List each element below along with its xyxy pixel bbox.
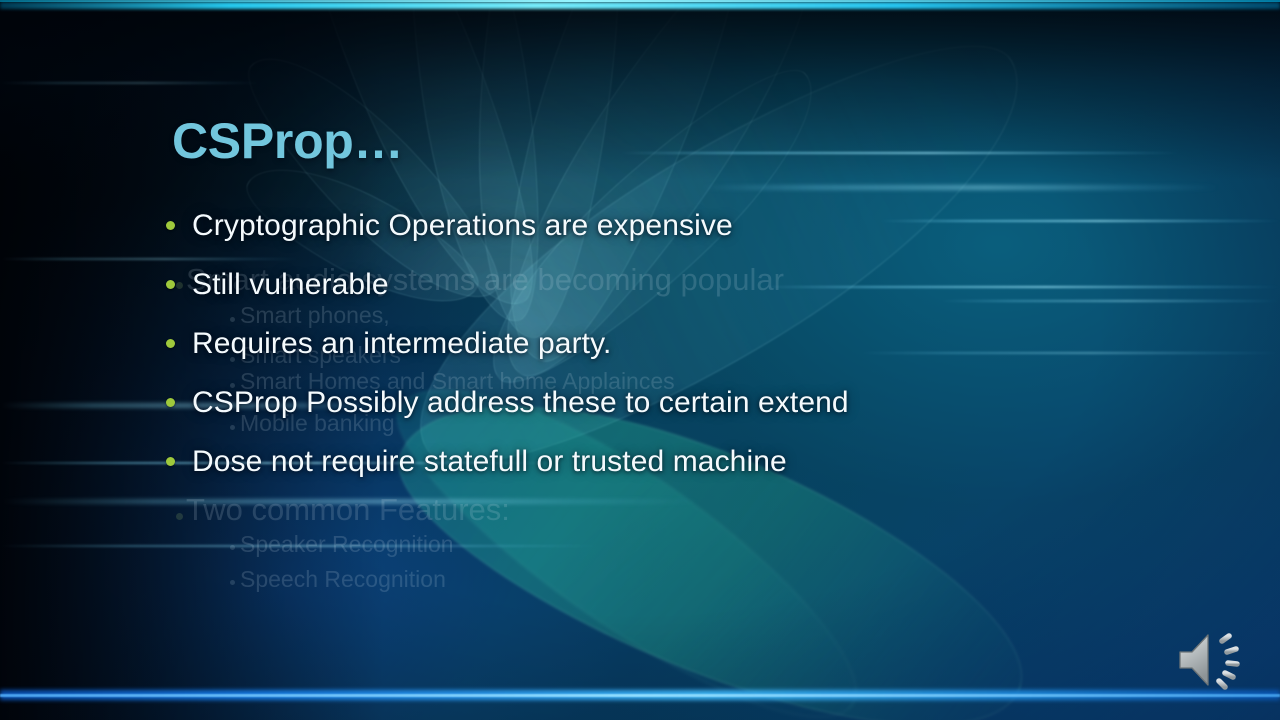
bullet-text: CSProp Possibly address these to certain… (192, 386, 849, 420)
bullet-marker-icon (166, 221, 175, 230)
bullet-item: Dose not require statefull or trusted ma… (166, 432, 1166, 491)
bullet-text: Dose not require statefull or trusted ma… (192, 445, 787, 479)
bullet-item: Cryptographic Operations are expensive (166, 196, 1166, 255)
presentation-slide: Smart audio systems are becoming popular… (0, 0, 1280, 720)
bullet-text: Requires an intermediate party. (192, 327, 611, 361)
bottom-light-beam-core (0, 694, 1280, 697)
bullet-marker-icon (166, 280, 175, 289)
bullet-marker-icon (166, 457, 175, 466)
speaker-audio-icon[interactable] (1176, 628, 1252, 692)
bullet-item: CSProp Possibly address these to certain… (166, 373, 1166, 432)
slide-bullet-list: Cryptographic Operations are expensive S… (166, 196, 1166, 491)
bullet-text: Still vulnerable (192, 268, 389, 302)
bullet-text: Cryptographic Operations are expensive (192, 209, 733, 243)
slide-title: CSProp… (172, 112, 403, 170)
bullet-item: Still vulnerable (166, 255, 1166, 314)
top-light-beam (0, 2, 1280, 9)
top-light-beam-core (0, 0, 1280, 2)
bullet-marker-icon (166, 398, 175, 407)
bullet-marker-icon (166, 339, 175, 348)
bullet-item: Requires an intermediate party. (166, 314, 1166, 373)
